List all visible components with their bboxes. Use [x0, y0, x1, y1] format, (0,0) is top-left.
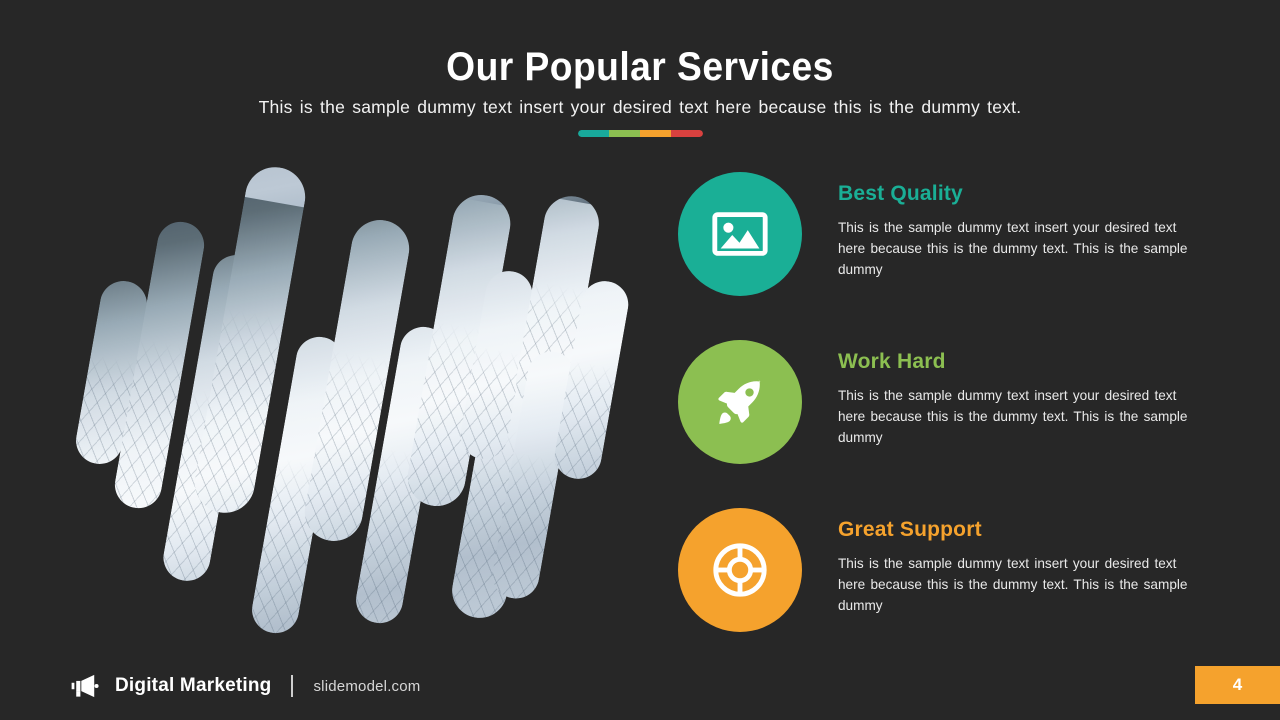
feature-heading-3: Great Support [838, 518, 1218, 542]
image-collage [78, 160, 618, 660]
slide-root: Our Popular Services This is the sample … [0, 0, 1280, 720]
feature-item-great-support[interactable]: Great Support This is the sample dummy t… [678, 508, 1218, 648]
feature-item-work-hard[interactable]: Work Hard This is the sample dummy text … [678, 340, 1218, 480]
accent-divider [578, 130, 703, 137]
page-title: Our Popular Services [45, 46, 1235, 88]
footer-separator [291, 675, 293, 697]
feature-body-2: This is the sample dummy text insert you… [838, 385, 1188, 449]
feature-text-1: Best Quality This is the sample dummy te… [838, 172, 1218, 281]
feature-heading-2: Work Hard [838, 350, 1218, 374]
accent-segment-4 [671, 130, 702, 137]
megaphone-icon [70, 674, 100, 698]
collage-stripes [78, 160, 618, 660]
page-number: 4 [1233, 675, 1242, 695]
slide-footer: Digital Marketing slidemodel.com [70, 674, 421, 698]
footer-url: slidemodel.com [313, 678, 420, 695]
slide-header: Our Popular Services This is the sample … [0, 46, 1280, 137]
feature-list: Best Quality This is the sample dummy te… [678, 172, 1218, 648]
feature-text-3: Great Support This is the sample dummy t… [838, 508, 1218, 617]
feature-heading-1: Best Quality [838, 182, 1218, 206]
brand-name: Digital Marketing [115, 675, 271, 697]
accent-segment-1 [578, 130, 609, 137]
feature-item-best-quality[interactable]: Best Quality This is the sample dummy te… [678, 172, 1218, 312]
feature-icon-circle-2 [678, 340, 802, 464]
page-subtitle: This is the sample dummy text insert you… [0, 97, 1280, 118]
image-icon [709, 203, 771, 265]
accent-segment-3 [640, 130, 671, 137]
feature-icon-circle-3 [678, 508, 802, 632]
accent-segment-2 [609, 130, 640, 137]
feature-icon-circle-1 [678, 172, 802, 296]
feature-text-2: Work Hard This is the sample dummy text … [838, 340, 1218, 449]
feature-body-1: This is the sample dummy text insert you… [838, 217, 1188, 281]
lifebuoy-icon [709, 539, 771, 601]
page-number-badge: 4 [1195, 666, 1280, 704]
rocket-icon [711, 373, 769, 431]
feature-body-3: This is the sample dummy text insert you… [838, 553, 1188, 617]
